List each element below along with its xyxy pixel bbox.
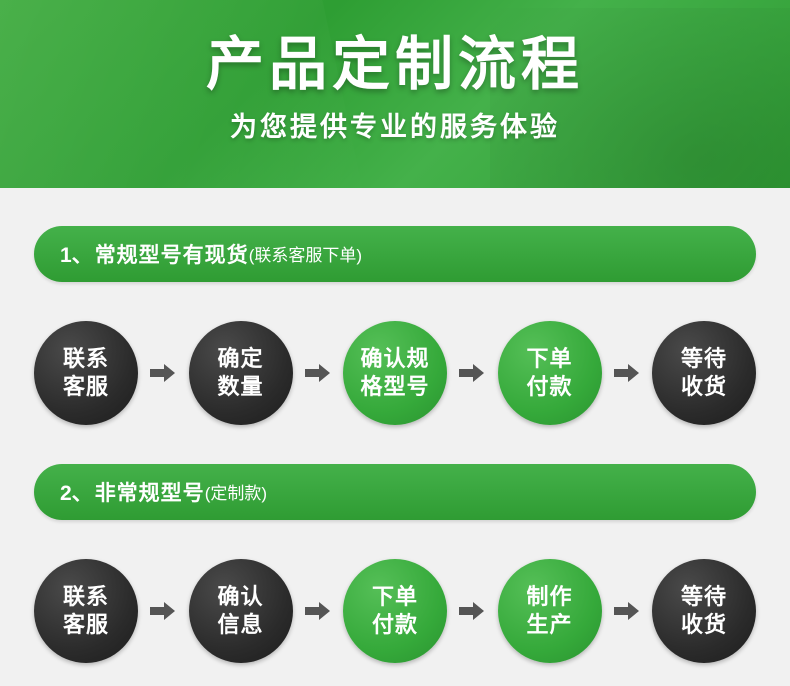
- flow-step-1-2-line2: 数量: [217, 373, 263, 401]
- flow-step-1-4[interactable]: 下单 付款: [498, 321, 602, 425]
- flow-row-1: 联系 客服 确定 数量 确认规 格型号 下单 付款 等待 收货: [34, 300, 756, 446]
- section-number-2: 2、: [60, 477, 93, 507]
- flow-step-2-1-line2: 客服: [63, 611, 109, 639]
- flow-step-2-1[interactable]: 联系 客服: [34, 559, 138, 663]
- flow-step-1-4-line1: 下单: [526, 345, 572, 373]
- flow-step-1-1-line1: 联系: [63, 345, 109, 373]
- flow-step-2-2-line1: 确认: [217, 583, 263, 611]
- flow-step-2-5-line2: 收货: [681, 611, 727, 639]
- flow-step-1-1[interactable]: 联系 客服: [34, 321, 138, 425]
- flow-step-1-3[interactable]: 确认规 格型号: [343, 321, 447, 425]
- flow-step-2-3-line1: 下单: [372, 583, 418, 611]
- arrow-right-icon: [459, 601, 485, 621]
- arrow-right-icon: [614, 601, 640, 621]
- page-banner: 产品定制流程 为您提供专业的服务体验: [0, 0, 790, 188]
- flow-step-2-1-line1: 联系: [63, 583, 109, 611]
- flow-step-2-3[interactable]: 下单 付款: [343, 559, 447, 663]
- flow-step-1-3-line1: 确认规: [360, 345, 429, 373]
- section-number-1: 1、: [60, 239, 93, 269]
- flow-step-1-5-line1: 等待: [681, 345, 727, 373]
- flow-step-2-2-line2: 信息: [217, 611, 263, 639]
- flow-row-2: 联系 客服 确认 信息 下单 付款 制作 生产 等待 收货: [34, 538, 756, 684]
- flow-step-1-2-line1: 确定: [217, 345, 263, 373]
- page-subtitle: 为您提供专业的服务体验: [0, 110, 790, 144]
- arrow-right-icon: [150, 363, 176, 383]
- flow-step-1-3-line2: 格型号: [360, 373, 429, 401]
- section-note-1: (联系客服下单): [249, 241, 362, 267]
- flow-step-1-5-line2: 收货: [681, 373, 727, 401]
- flow-step-2-4[interactable]: 制作 生产: [498, 559, 602, 663]
- flow-step-2-2[interactable]: 确认 信息: [189, 559, 293, 663]
- flow-step-2-5[interactable]: 等待 收货: [652, 559, 756, 663]
- page-title: 产品定制流程: [0, 30, 790, 100]
- section-note-2: (定制款): [205, 479, 267, 505]
- flow-step-1-1-line2: 客服: [63, 373, 109, 401]
- arrow-right-icon: [305, 363, 331, 383]
- section-title-1: 常规型号有现货: [95, 239, 249, 269]
- arrow-right-icon: [305, 601, 331, 621]
- flow-step-2-3-line2: 付款: [372, 611, 418, 639]
- flow-content: 1、 常规型号有现货 (联系客服下单) 联系 客服 确定 数量 确认规 格型号 …: [0, 188, 790, 684]
- section-title-2: 非常规型号: [95, 477, 205, 507]
- flow-step-1-2[interactable]: 确定 数量: [189, 321, 293, 425]
- arrow-right-icon: [614, 363, 640, 383]
- section-header-2: 2、 非常规型号 (定制款): [34, 464, 756, 520]
- banner-text-group: 产品定制流程 为您提供专业的服务体验: [0, 0, 790, 144]
- flow-step-2-4-line1: 制作: [526, 583, 572, 611]
- flow-step-2-5-line1: 等待: [681, 583, 727, 611]
- arrow-right-icon: [459, 363, 485, 383]
- flow-step-1-5[interactable]: 等待 收货: [652, 321, 756, 425]
- flow-step-2-4-line2: 生产: [526, 611, 572, 639]
- section-header-1: 1、 常规型号有现货 (联系客服下单): [34, 226, 756, 282]
- flow-step-1-4-line2: 付款: [526, 373, 572, 401]
- arrow-right-icon: [150, 601, 176, 621]
